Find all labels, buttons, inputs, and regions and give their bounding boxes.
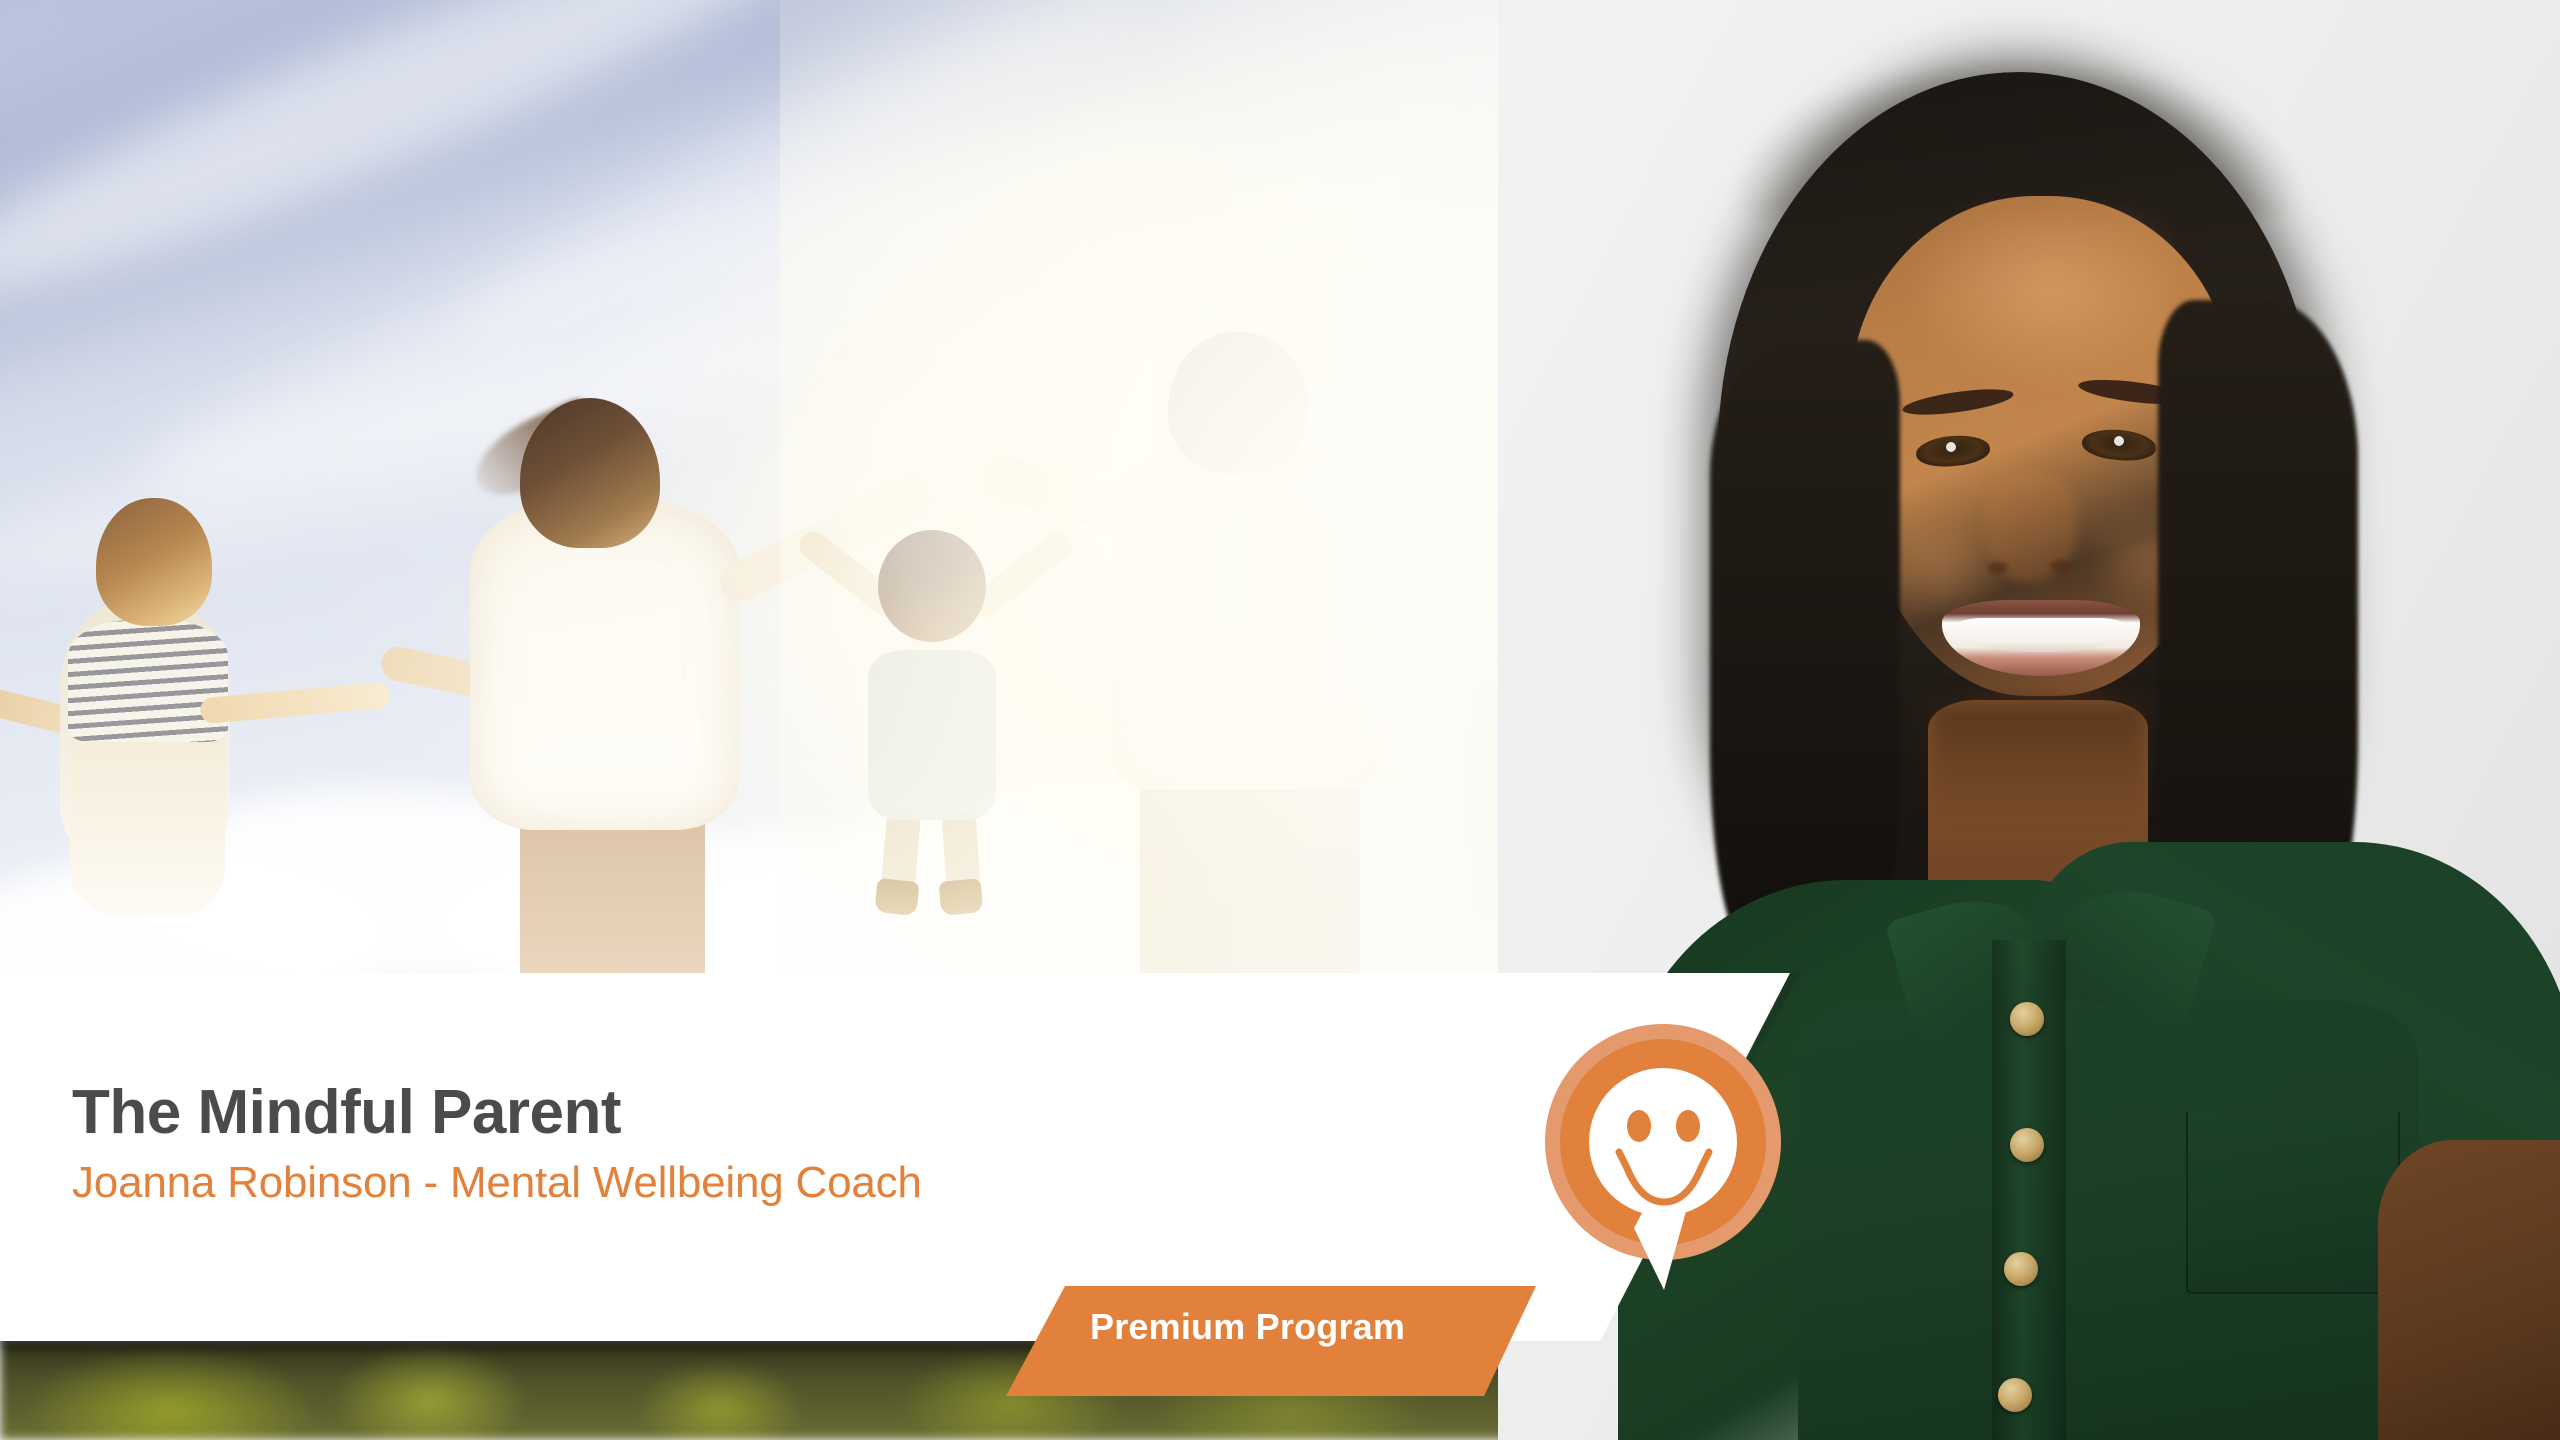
smiley-speech-bubble-logo[interactable] — [1538, 1022, 1788, 1290]
child-left-striped-shirt — [68, 620, 228, 742]
shirt-button — [2004, 1252, 2038, 1286]
eye-catchlight — [2114, 436, 2124, 446]
nostril — [2050, 560, 2070, 572]
shirt-button — [2010, 1128, 2044, 1162]
nostril — [1988, 562, 2008, 574]
logo-eye-right — [1676, 1110, 1700, 1142]
shirt-button — [2010, 1002, 2044, 1036]
shirt-pocket — [2186, 1112, 2400, 1294]
toddler-shoe — [874, 878, 919, 916]
eye-catchlight — [1946, 442, 1956, 452]
toddler-overalls — [868, 650, 996, 820]
headline-block: The Mindful Parent Joanna Robinson - Men… — [72, 1080, 1172, 1207]
logo-bubble-body — [1589, 1068, 1737, 1216]
toddler-shoe — [939, 878, 984, 916]
subtitle: Joanna Robinson - Mental Wellbeing Coach — [72, 1159, 1172, 1207]
forehead-highlight — [1908, 214, 2168, 384]
mother-blouse — [470, 500, 740, 830]
page-title: The Mindful Parent — [72, 1080, 1172, 1145]
child-left-skirt — [70, 726, 225, 916]
logo-eye-left — [1627, 1110, 1651, 1142]
premium-program-label: Premium Program — [1090, 1306, 1510, 1348]
forearm — [2378, 1140, 2560, 1440]
toddler-head — [878, 530, 986, 642]
neck-shadow — [1928, 700, 2148, 820]
toddler-leg — [881, 811, 921, 890]
toddler-leg — [941, 811, 980, 889]
hair-strand-left — [1710, 340, 1900, 960]
shirt-button — [1998, 1378, 2032, 1412]
child-left-head — [96, 498, 212, 626]
marketing-banner: The Mindful Parent Joanna Robinson - Men… — [0, 0, 2560, 1440]
